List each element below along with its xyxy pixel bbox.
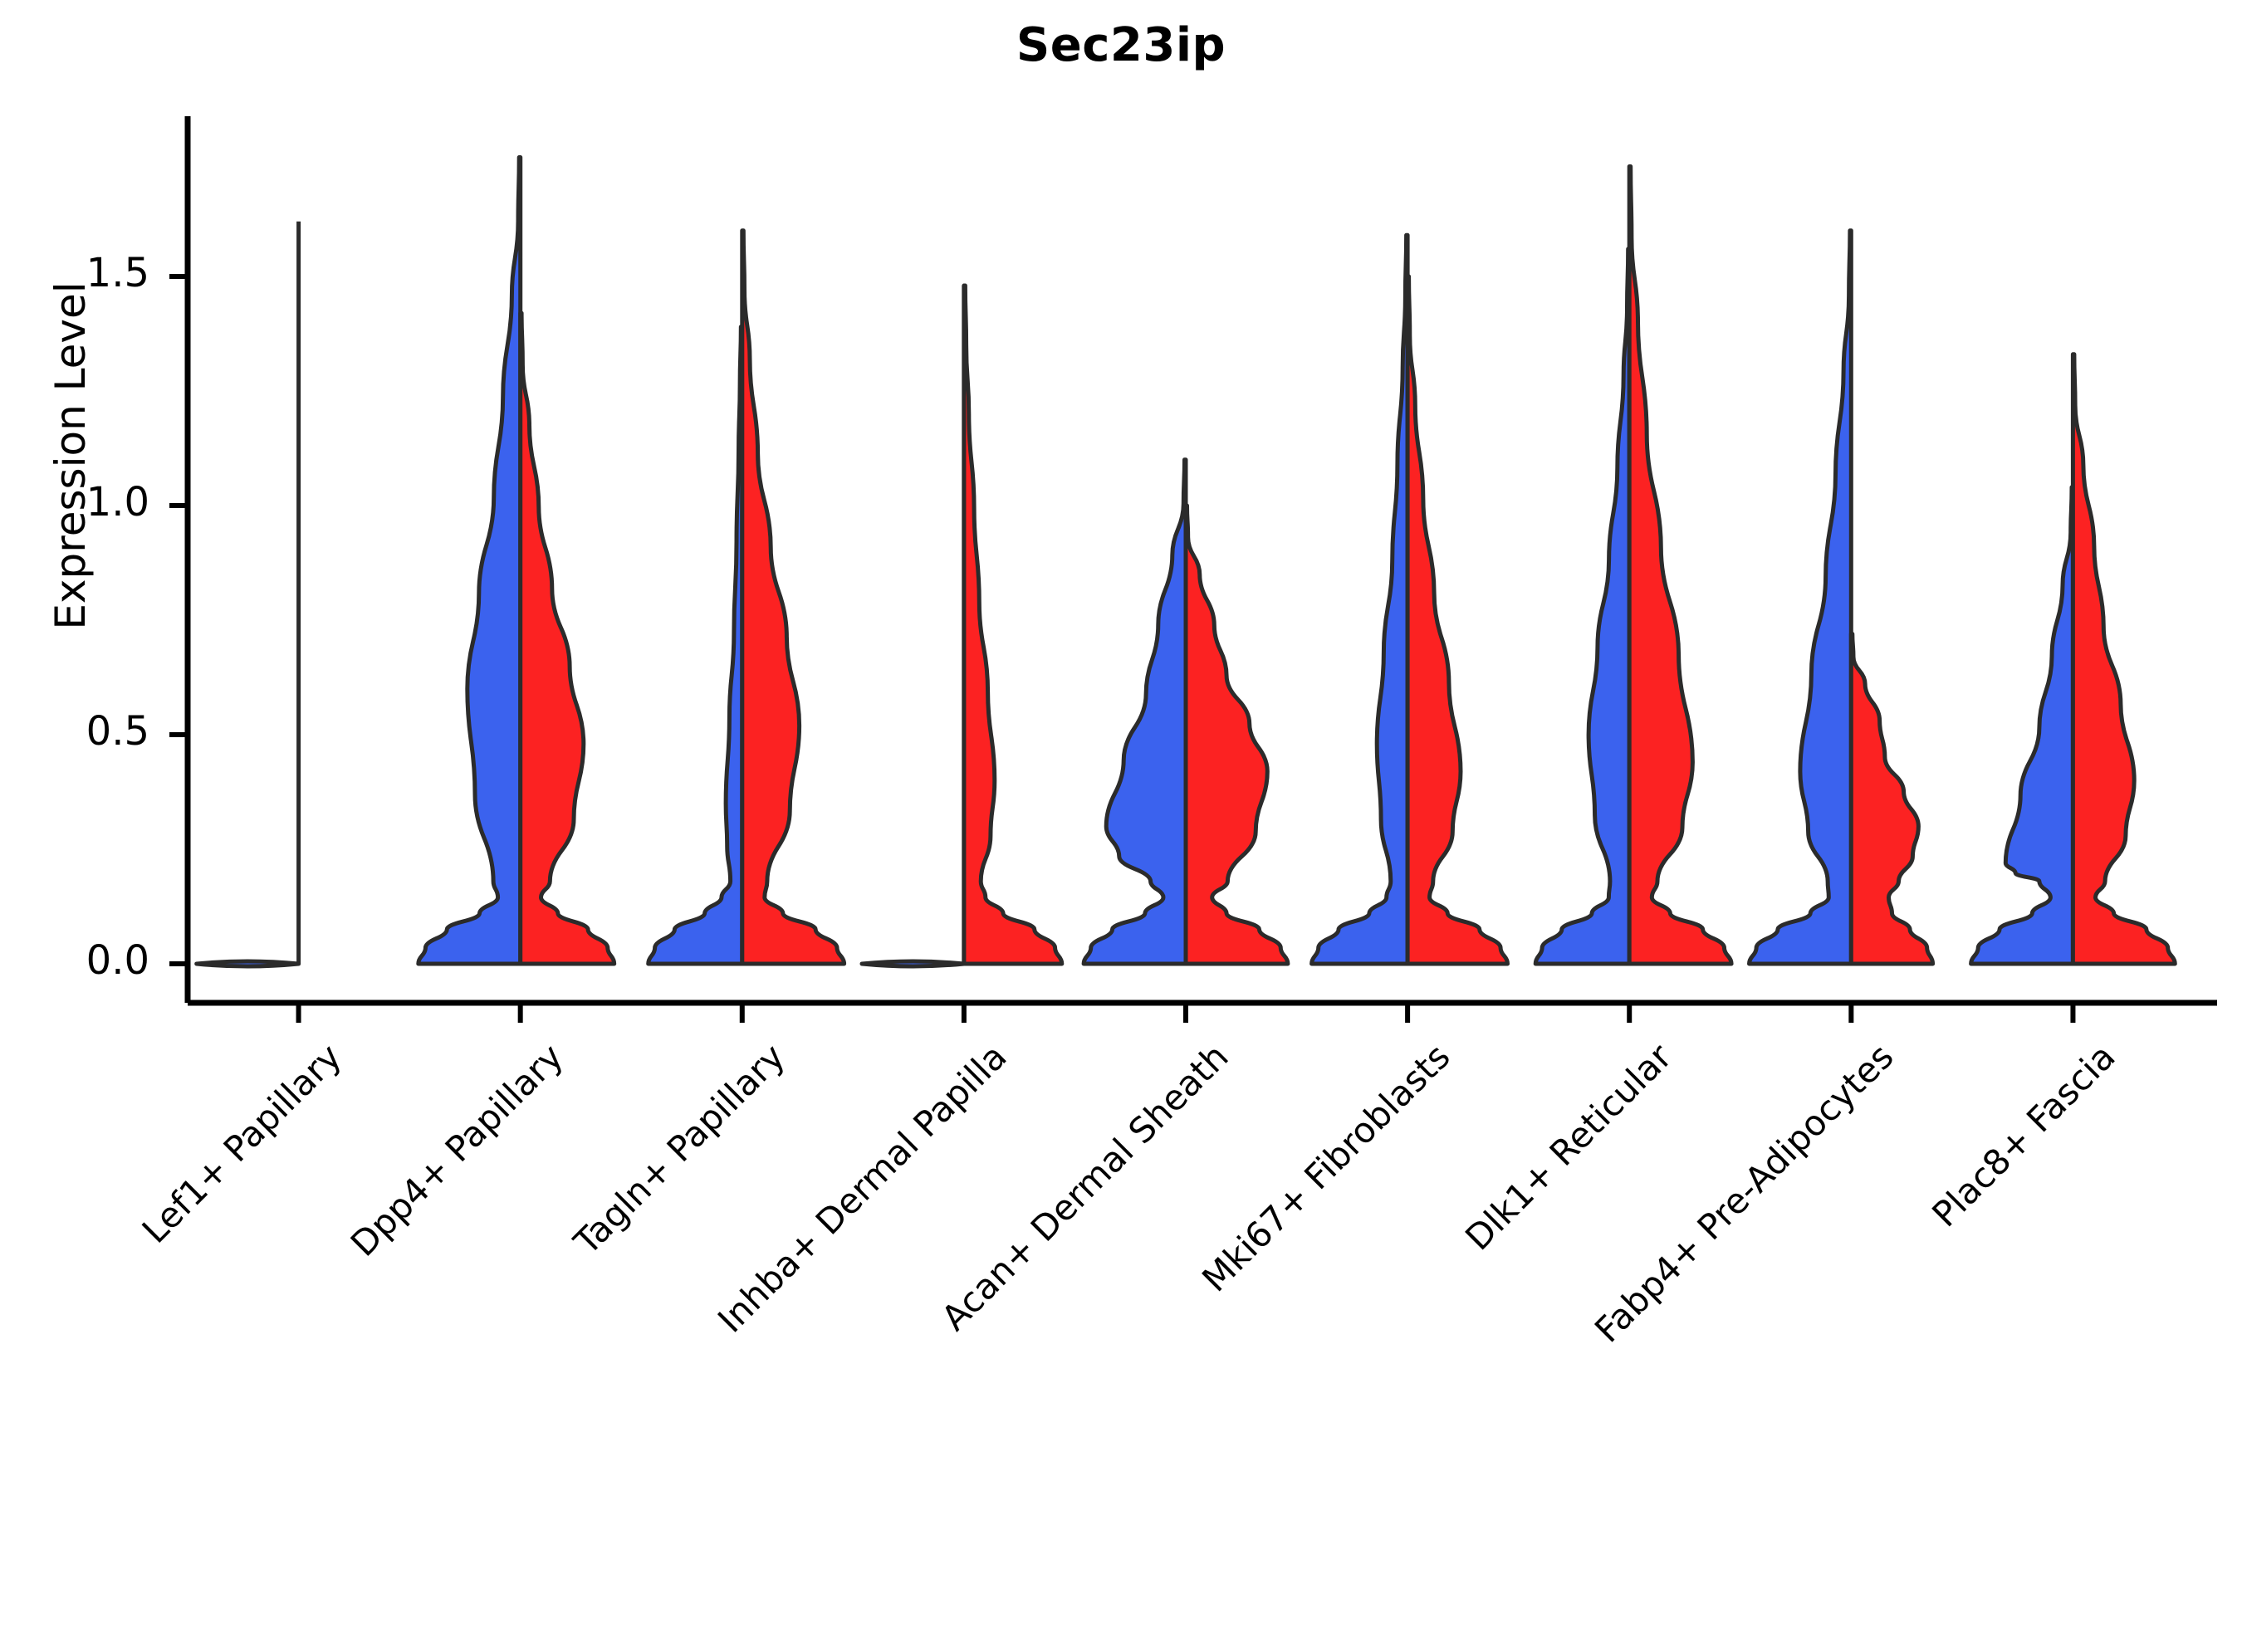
y-tick-label-1: 0.5 [0, 708, 149, 755]
violin-body [649, 327, 742, 964]
y-tick-label-2: 1.0 [0, 479, 149, 525]
violin-body [521, 313, 614, 964]
violin-series_2-7[interactable] [1851, 634, 1932, 964]
violin-series_1-7[interactable] [1750, 231, 1852, 964]
y-tick-label-3: 1.5 [0, 250, 149, 296]
violin-body [742, 231, 844, 964]
violin-body [1407, 276, 1507, 964]
violin-series_1-2[interactable] [649, 327, 742, 964]
violin-series_1-5[interactable] [1312, 235, 1408, 964]
violin-plot-figure: Sec23ip Expression Level 0.00.51.01.5 Le… [0, 0, 2242, 1494]
violin-body [2073, 354, 2175, 964]
violin-series_2-6[interactable] [1629, 167, 1731, 965]
violin-series_2-5[interactable] [1407, 276, 1507, 964]
violin-series_2-8[interactable] [2073, 354, 2175, 964]
violin-series_2-3[interactable] [964, 286, 1062, 964]
violin-series_1-0[interactable] [197, 222, 299, 966]
violin-body [1186, 506, 1288, 964]
violin-series_1-1[interactable] [419, 158, 521, 965]
violin-body [419, 158, 521, 965]
violin-series_2-1[interactable] [521, 313, 614, 964]
violin-body [964, 286, 1062, 964]
violin-body [1629, 167, 1731, 965]
violins-layer [197, 158, 2176, 967]
violin-series_2-2[interactable] [742, 231, 844, 964]
violin-series_1-8[interactable] [1971, 487, 2073, 964]
violin-body [1535, 249, 1629, 964]
violin-body [1084, 460, 1186, 964]
violin-series_2-4[interactable] [1186, 506, 1288, 964]
y-tick-label-0: 0.0 [0, 937, 149, 984]
violin-series_1-4[interactable] [1084, 460, 1186, 964]
violin-baseline-sliver [197, 961, 299, 966]
violin-series_1-3[interactable] [862, 286, 964, 966]
violin-body [1851, 634, 1932, 964]
violin-baseline-sliver [862, 961, 964, 966]
violin-body [1312, 235, 1408, 964]
violin-body [1971, 487, 2073, 964]
violin-series_1-6[interactable] [1535, 249, 1629, 964]
violin-body [1750, 231, 1852, 964]
